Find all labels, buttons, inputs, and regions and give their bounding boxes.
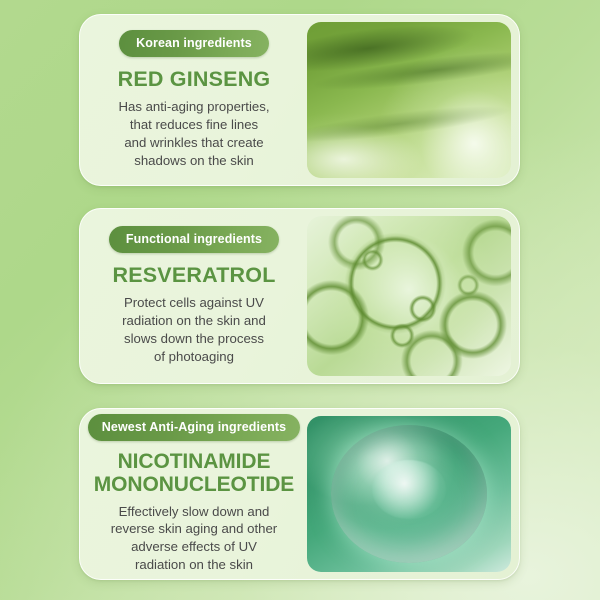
- orb-texture-layer: [307, 416, 511, 572]
- ingredient-title: NICOTINAMIDE MONONUCLEOTIDE: [94, 451, 294, 496]
- ingredient-description: Effectively slow down and reverse skin a…: [111, 503, 277, 575]
- ingredient-title: RED GINSENG: [118, 68, 271, 91]
- ingredient-card-resveratrol: Functional ingredients RESVERATROL Prote…: [79, 208, 520, 384]
- card-text-column: Newest Anti-Aging ingredients NICOTINAMI…: [79, 408, 307, 580]
- ingredient-description: Protect cells against UV radiation on th…: [122, 294, 266, 366]
- gel-texture-layer: [307, 22, 511, 178]
- card-text-column: Korean ingredients RED GINSENG Has anti-…: [79, 14, 307, 186]
- bubble-texture-layer: [307, 216, 511, 376]
- ingredient-description: Has anti-aging properties, that reduces …: [118, 98, 269, 170]
- teal-sphere-orb-photo: [307, 416, 511, 572]
- ingredient-badge: Newest Anti-Aging ingredients: [88, 414, 300, 442]
- ingredient-badge: Functional ingredients: [109, 226, 279, 254]
- ingredient-card-red-ginseng: Korean ingredients RED GINSENG Has anti-…: [79, 14, 520, 186]
- ingredient-title: RESVERATROL: [112, 264, 275, 287]
- ingredient-badge: Korean ingredients: [119, 30, 269, 58]
- ingredient-card-nicotinamide-mononucleotide: Newest Anti-Aging ingredients NICOTINAMI…: [79, 408, 520, 580]
- green-gel-droplets-photo: [307, 22, 511, 178]
- green-bubble-cells-photo: [307, 216, 511, 376]
- ingredient-infographic: Korean ingredients RED GINSENG Has anti-…: [0, 0, 600, 600]
- card-text-column: Functional ingredients RESVERATROL Prote…: [79, 208, 307, 384]
